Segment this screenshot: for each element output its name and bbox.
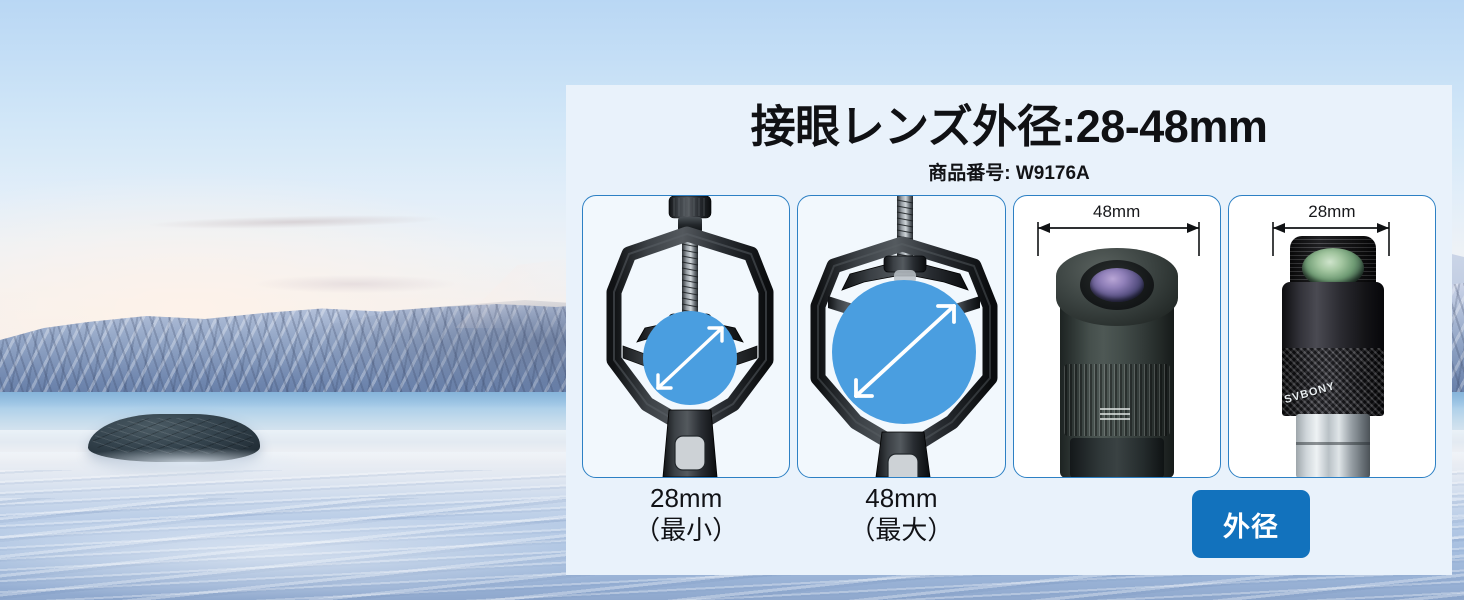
eyepiece-markings (1100, 406, 1130, 420)
spec-panel: 接眼レンズ外径:28-48mm 商品番号: W9176A (566, 85, 1452, 575)
caption-min-value: 28mm (650, 483, 722, 513)
caption-clamp-min: 28mm （最小） (582, 483, 790, 546)
eyepiece-barrel-groove (1296, 442, 1370, 445)
eyepiece-chrome-barrel (1296, 414, 1370, 478)
eyepiece-base (1070, 438, 1164, 478)
spec-card-eyepiece-28mm: 28mm SVBONY (1228, 195, 1436, 478)
water-mist-around-rock (60, 448, 320, 478)
caption-spacer-3 (1013, 483, 1221, 546)
caption-clamp-max: 48mm （最大） (797, 483, 1005, 546)
spec-card-eyepiece-48mm: 48mm (1013, 195, 1221, 478)
caption-min-qualifier: （最小） (582, 515, 790, 547)
eyepiece-lens-coating (1090, 268, 1144, 302)
eyepiece-48mm-photo (1054, 242, 1180, 478)
eyepiece-midsection (1282, 282, 1384, 352)
water-sheen (0, 520, 650, 600)
caption-max-value: 48mm (865, 483, 937, 513)
product-number: 商品番号: W9176A (566, 152, 1452, 185)
clamp-min-illustration (583, 196, 789, 477)
promo-banner: 接眼レンズ外径:28-48mm 商品番号: W9176A (0, 0, 1464, 600)
clamp-max-svg (798, 196, 1005, 477)
spec-card-clamp-min (582, 195, 790, 478)
cloud-wisp-secondary-icon (255, 275, 455, 293)
page-title: 接眼レンズ外径:28-48mm (566, 85, 1452, 152)
status-badge: 外径 (1192, 490, 1310, 558)
spec-card-clamp-max (797, 195, 1005, 478)
clamp-min-svg (583, 196, 790, 477)
eyepiece-28mm-photo: SVBONY (1272, 236, 1392, 478)
spec-card-list: 48mm (582, 195, 1436, 478)
eyepiece-ribbed-grip (1064, 364, 1170, 436)
caption-max-qualifier: （最大） (797, 515, 1005, 547)
clamp-max-illustration (798, 196, 1004, 477)
